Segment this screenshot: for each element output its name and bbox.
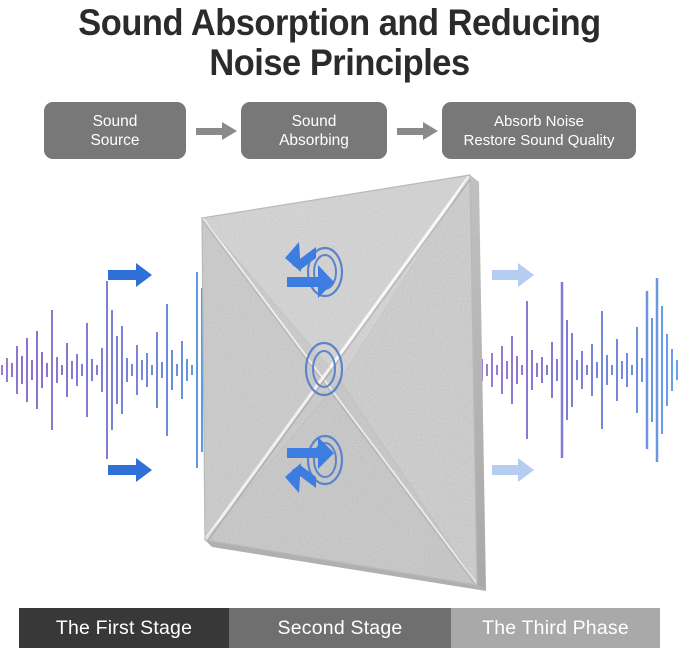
flow-step-3-line-1: Absorb Noise: [494, 112, 584, 131]
stage-segment-second: Second Stage: [229, 608, 451, 648]
incoming-sound-arrow: [108, 458, 152, 482]
arrow-right-icon: [186, 119, 241, 143]
attenuated-sound-arrow: [492, 263, 534, 287]
flow-step-sound-absorbing: Sound Absorbing: [241, 102, 387, 159]
arrow-head: [222, 122, 237, 140]
incoming-sound-arrow: [108, 263, 152, 287]
arrow-shaft: [397, 128, 425, 135]
stage-segment-third: The Third Phase: [451, 608, 660, 648]
flow-step-1-line-1: Sound: [93, 112, 138, 131]
acoustic-panel-illustration: [0, 160, 679, 600]
flow-step-absorb-noise: Absorb Noise Restore Sound Quality: [442, 102, 636, 159]
flow-step-sound-source: Sound Source: [44, 102, 186, 159]
flow-step-2-line-2: Absorbing: [279, 131, 349, 150]
page-title-line-1: Sound Absorption and Reducing: [24, 0, 655, 43]
arrow-shaft: [196, 128, 224, 135]
flow-step-2-line-1: Sound: [292, 112, 337, 131]
arrow-head: [423, 122, 438, 140]
acoustic-felt-panel: [195, 170, 495, 595]
arrow-right-icon: [387, 119, 442, 143]
flow-step-3-line-2: Restore Sound Quality: [464, 131, 615, 150]
attenuated-sound-arrow: [492, 458, 534, 482]
page-title-line-2: Noise Principles: [24, 43, 655, 83]
page-title: Sound Absorption and Reducing Noise Prin…: [0, 0, 679, 86]
stage-segment-first: The First Stage: [19, 608, 229, 648]
waveform-quiet-right: [472, 278, 677, 462]
stage-legend-bar: The First Stage Second Stage The Third P…: [19, 608, 660, 648]
process-flow: Sound Source Sound Absorbing Absorb Nois…: [44, 101, 636, 160]
flow-step-1-line-2: Source: [90, 131, 139, 150]
